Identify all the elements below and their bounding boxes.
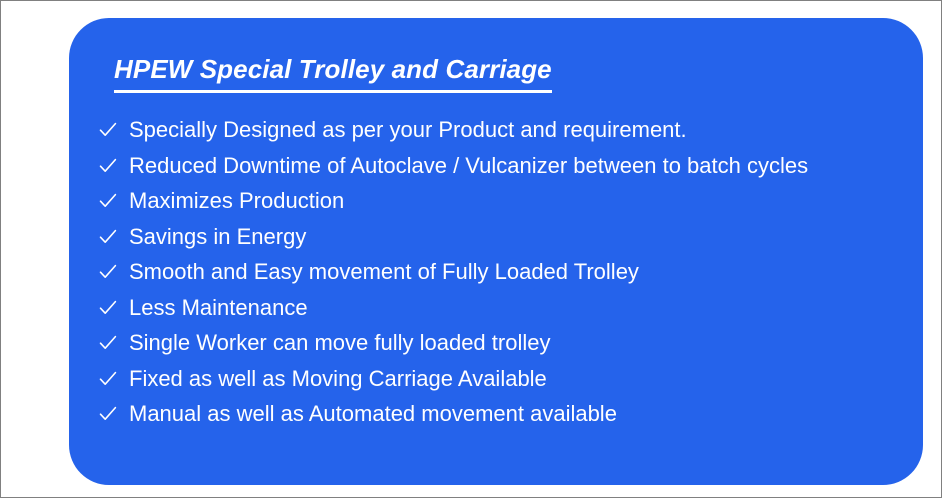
check-icon [97,222,129,252]
check-icon [97,115,129,145]
check-icon [97,399,129,429]
list-item-label: Manual as well as Automated movement ava… [129,399,915,429]
list-item: Manual as well as Automated movement ava… [97,399,915,435]
check-icon [97,293,129,323]
list-item: Maximizes Production [97,186,915,222]
list-item: Specially Designed as per your Product a… [97,115,915,151]
list-item-label: Single Worker can move fully loaded trol… [129,328,915,358]
slide-canvas: HPEW Special Trolley and Carriage Specia… [0,0,942,498]
list-item-label: Maximizes Production [129,186,915,216]
list-item: Fixed as well as Moving Carriage Availab… [97,364,915,400]
panel-title-text: HPEW Special Trolley and Carriage [114,53,552,93]
list-item: Smooth and Easy movement of Fully Loaded… [97,257,915,293]
check-icon [97,151,129,181]
list-item-label: Fixed as well as Moving Carriage Availab… [129,364,915,394]
feature-bullet-list: Specially Designed as per your Product a… [97,115,915,435]
list-item: Less Maintenance [97,293,915,329]
list-item: Single Worker can move fully loaded trol… [97,328,915,364]
check-icon [97,364,129,394]
list-item-label: Reduced Downtime of Autoclave / Vulcaniz… [129,151,915,181]
check-icon [97,328,129,358]
content-panel: HPEW Special Trolley and Carriage Specia… [69,18,923,485]
list-item: Reduced Downtime of Autoclave / Vulcaniz… [97,151,915,187]
list-item-label: Specially Designed as per your Product a… [129,115,915,145]
list-item-label: Less Maintenance [129,293,915,323]
list-item-label: Savings in Energy [129,222,915,252]
list-item: Savings in Energy [97,222,915,258]
list-item-label: Smooth and Easy movement of Fully Loaded… [129,257,915,287]
check-icon [97,257,129,287]
check-icon [97,186,129,216]
panel-title: HPEW Special Trolley and Carriage [114,53,552,93]
